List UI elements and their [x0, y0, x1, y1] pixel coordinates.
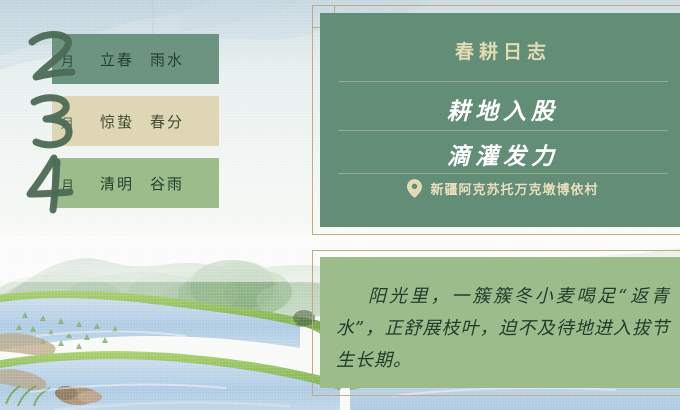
- calendar-row-month-2[interactable]: 月 立春 雨水: [52, 34, 219, 84]
- location-text: 新疆阿克苏托万克墩博依村: [430, 179, 598, 198]
- solar-term-qingming: 清明: [100, 173, 134, 194]
- month-unit-char-1: 月: [61, 113, 74, 132]
- location-pin-icon: [407, 179, 422, 198]
- headline-land-shares: 耕地入股: [320, 92, 680, 126]
- solar-term-chunfen: 春分: [150, 111, 184, 132]
- calendar-row-month-3[interactable]: 月 惊蛰 春分: [52, 96, 219, 146]
- solar-terms-month-2: 立春 雨水: [100, 34, 184, 84]
- card-divider-3: [338, 173, 668, 174]
- solar-terms-month-3: 惊蛰 春分: [100, 96, 184, 146]
- solar-term-guyu: 谷雨: [150, 173, 184, 194]
- headline-drip-irrigation: 滴灌发力: [320, 137, 680, 171]
- month-unit-char-2: 月: [61, 175, 74, 194]
- solar-term-jingzhe: 惊蛰: [100, 111, 134, 132]
- solar-term-yushui: 雨水: [150, 49, 184, 70]
- card-divider-1: [338, 81, 668, 82]
- solar-term-calendar: 月 立春 雨水 月 惊蛰 春分 月 清明 谷雨: [0, 0, 300, 215]
- solar-term-lichun: 立春: [100, 49, 134, 70]
- card-divider-2: [338, 130, 668, 131]
- location-row: 新疆阿克苏托万克墩博依村: [320, 179, 680, 198]
- poster-stage: 月 立春 雨水 月 惊蛰 春分 月 清明 谷雨: [0, 0, 680, 410]
- field-note-card: 阳光里，一簇簇冬小麦喝足“返青水”，正舒展枝叶，迫不及待地进入拔节生长期。: [320, 257, 680, 388]
- month-unit-char-0: 月: [61, 51, 74, 70]
- calendar-row-month-4[interactable]: 月 清明 谷雨: [52, 158, 219, 208]
- solar-terms-month-4: 清明 谷雨: [100, 158, 184, 208]
- field-note-paragraph: 阳光里，一簇簇冬小麦喝足“返青水”，正舒展枝叶，迫不及待地进入拔节生长期。: [336, 281, 670, 377]
- spring-plowing-log-card: 春耕日志 耕地入股 滴灌发力 新疆阿克苏托万克墩博依村: [320, 13, 680, 227]
- card-title: 春耕日志: [320, 37, 680, 64]
